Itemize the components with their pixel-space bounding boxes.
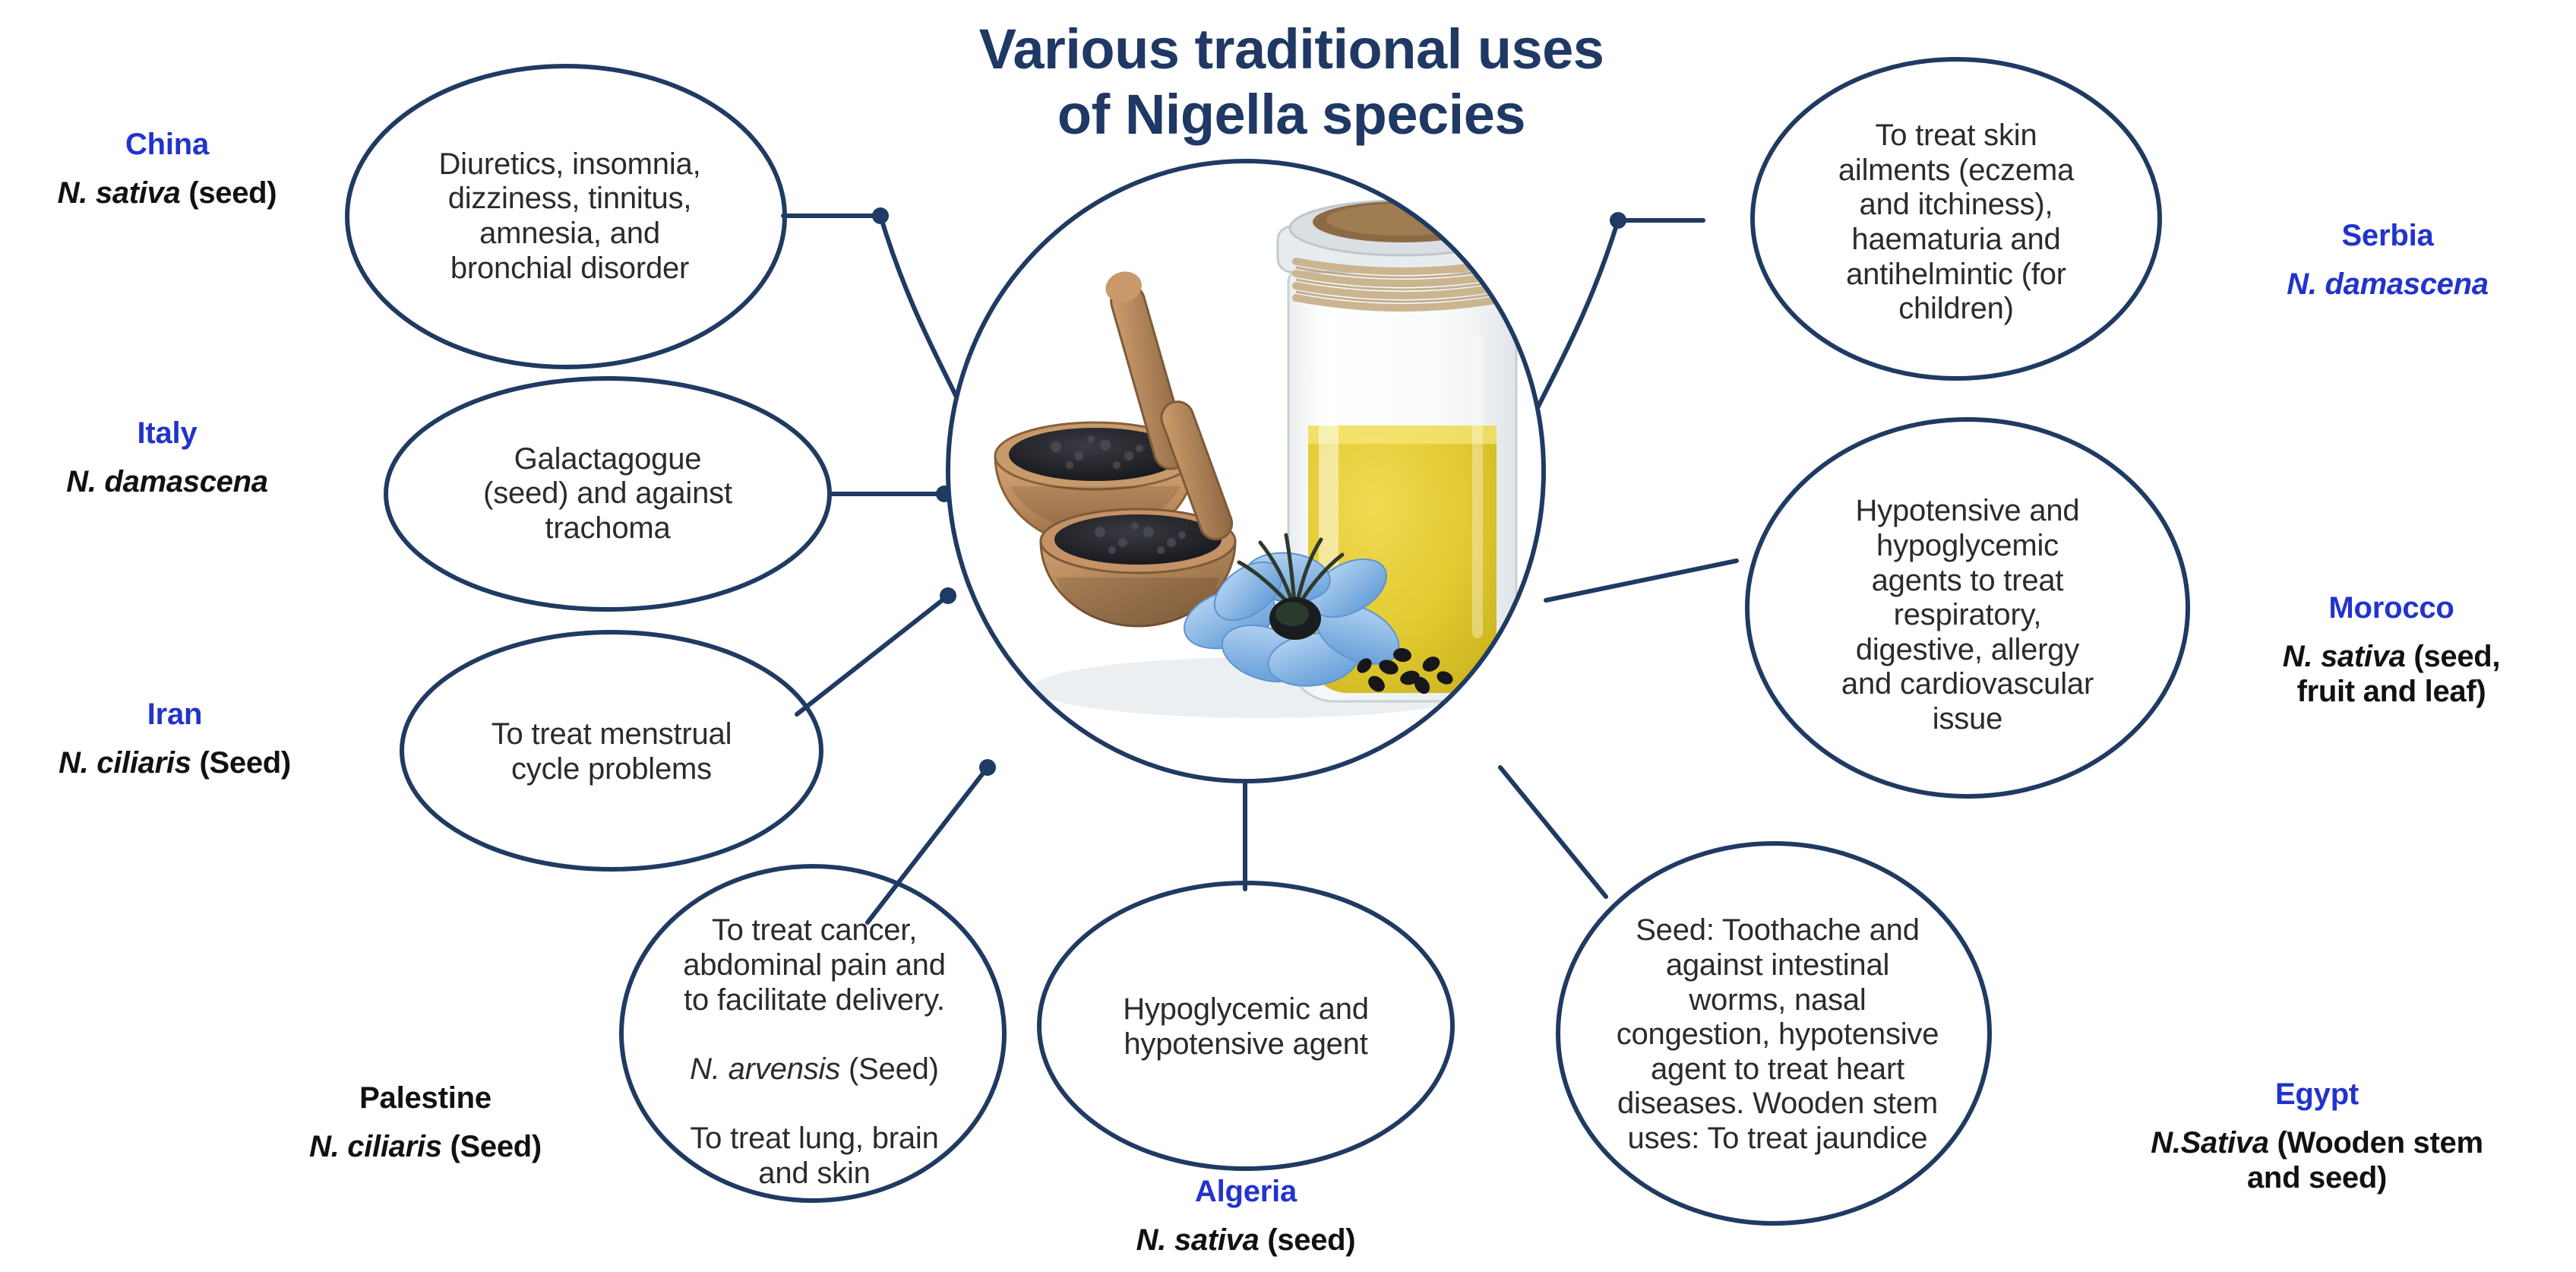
country-species-iran: N. ciliaris (Seed)	[8, 746, 342, 781]
country-species-algeria: N. sativa (seed)	[1071, 1223, 1421, 1258]
country-label-italy: Italy N. damascena	[8, 403, 327, 514]
country-name-italy: Italy	[8, 416, 327, 451]
country-name-china: China	[8, 128, 327, 163]
country-name-serbia: Serbia	[2203, 219, 2572, 254]
country-label-morocco: Morocco N. sativa (seed, fruit and leaf)	[2207, 577, 2576, 723]
country-name-egypt: Egypt	[2074, 1077, 2560, 1112]
country-label-palestine: Palestine N. ciliaris (Seed)	[251, 1068, 600, 1179]
country-label-china: China N. sativa (seed)	[8, 114, 327, 225]
country-name-algeria: Algeria	[1071, 1175, 1421, 1210]
country-label-serbia: Serbia N. damascena	[2203, 205, 2572, 316]
diagram-canvas: Various traditional uses of Nigella spec…	[0, 0, 2576, 1270]
country-species-serbia: N. damascena	[2203, 267, 2572, 302]
country-species-palestine: N. ciliaris (Seed)	[251, 1130, 600, 1165]
center-photo	[942, 152, 1550, 790]
country-label-iran: Iran N. ciliaris (Seed)	[8, 684, 342, 795]
country-species-egypt: N.Sativa (Wooden stem and seed)	[2074, 1126, 2560, 1195]
country-name-morocco: Morocco	[2207, 591, 2576, 626]
country-species-italy: N. damascena	[8, 465, 327, 500]
country-species-china: N. sativa (seed)	[8, 176, 327, 211]
country-name-iran: Iran	[8, 698, 342, 733]
country-label-algeria: Algeria N. sativa (seed)	[1071, 1161, 1421, 1272]
country-label-egypt: Egypt N.Sativa (Wooden stem and seed)	[2074, 1064, 2560, 1209]
country-name-palestine: Palestine	[251, 1081, 600, 1116]
page-title: Various traditional uses of Nigella spec…	[866, 17, 1717, 147]
country-species-morocco: N. sativa (seed, fruit and leaf)	[2207, 640, 2576, 709]
